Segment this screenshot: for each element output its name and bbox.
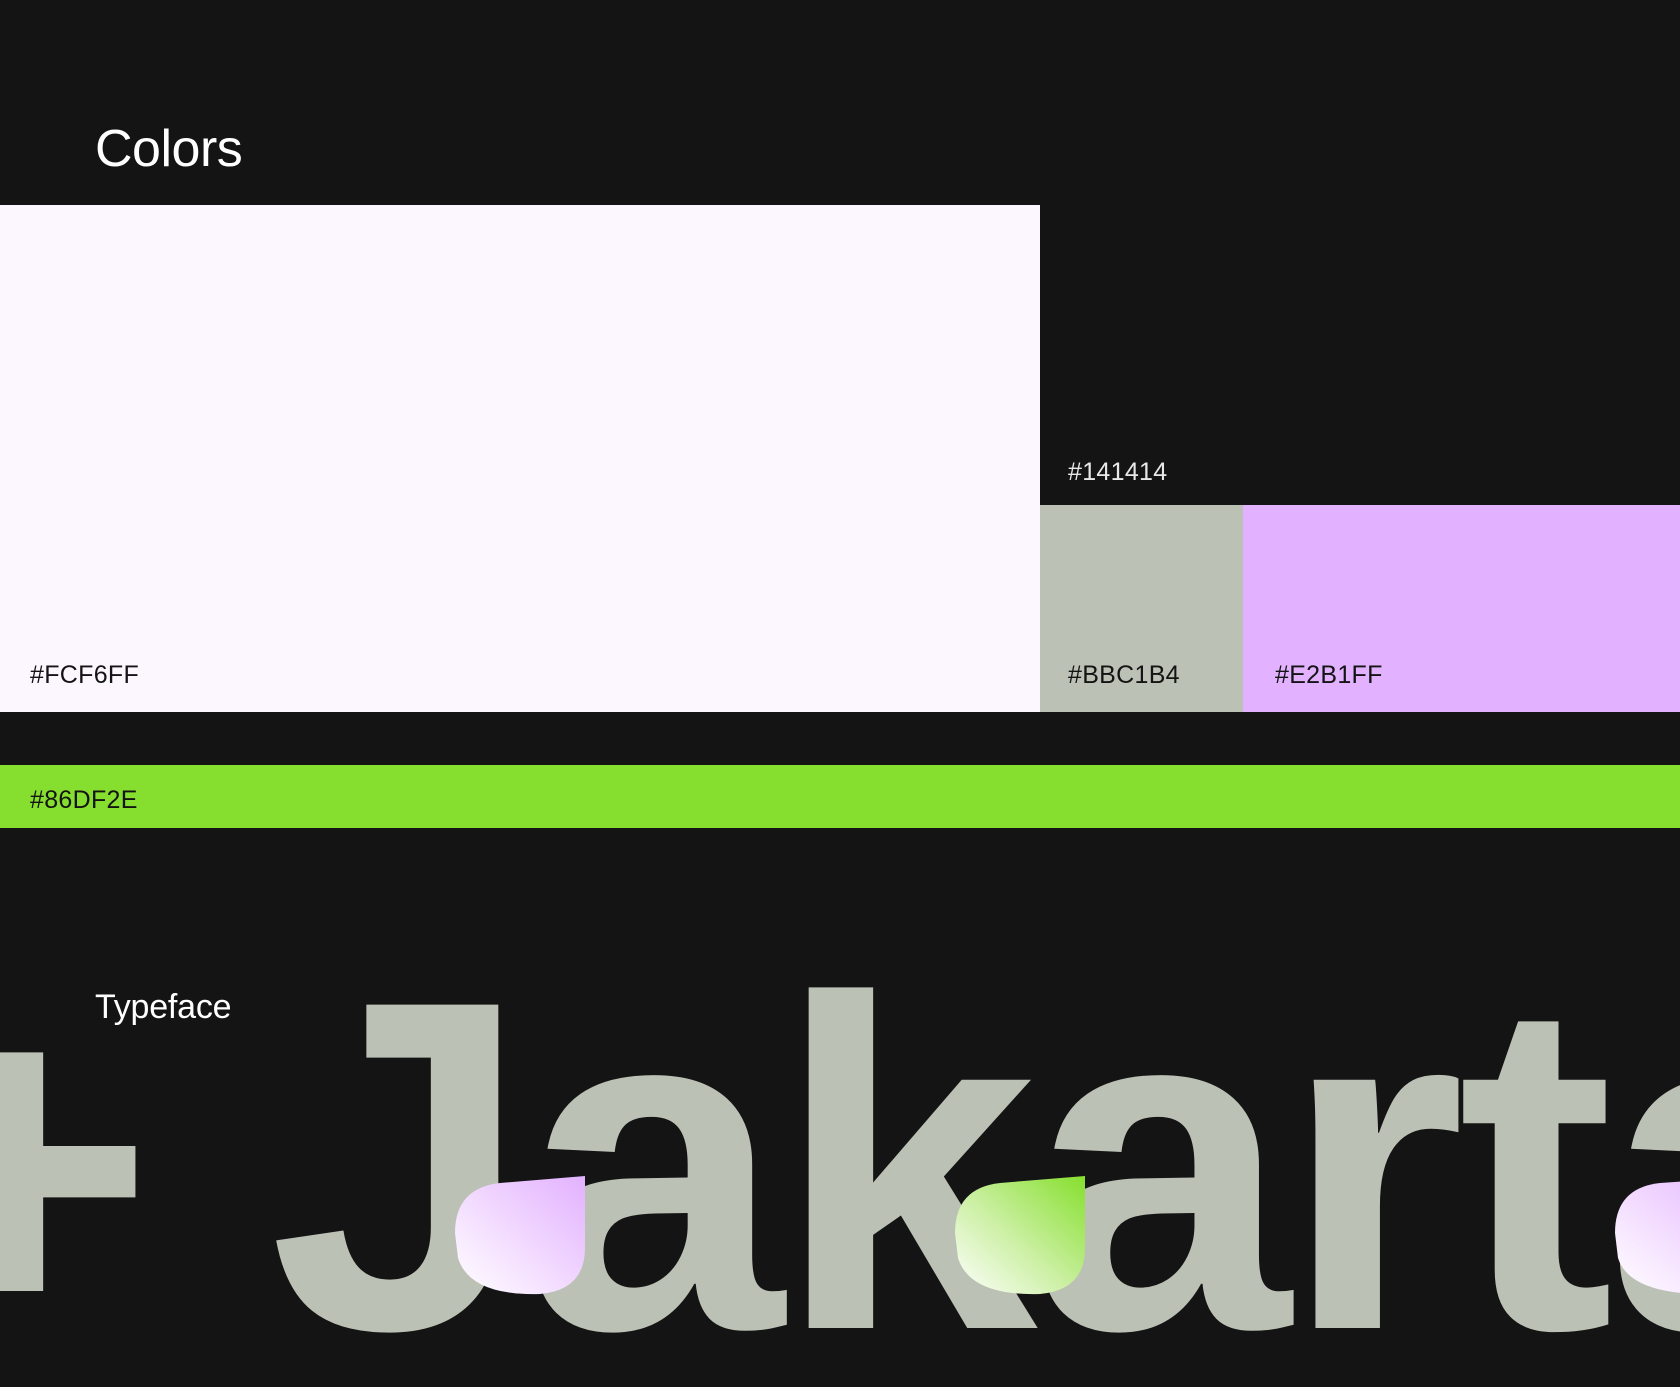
typeface-title: Typeface bbox=[95, 988, 231, 1027]
color-swatch-lavender[interactable]: #E2B1FF bbox=[1243, 505, 1680, 712]
color-swatch-off-white[interactable]: #FCF6FF bbox=[0, 205, 1040, 712]
specimen-word: + Jakarta bbox=[0, 903, 1680, 1387]
color-swatch-lime[interactable]: #86DF2E bbox=[0, 765, 1680, 828]
typeface-specimen: + Jakarta bbox=[0, 828, 1680, 1387]
page-title: Colors bbox=[95, 122, 242, 177]
typeface-specimen-lettering: + Jakarta bbox=[0, 828, 1680, 1387]
color-swatch-grid: #FCF6FF #141414 #BBC1B4 #E2B1FF #86DF2E bbox=[0, 205, 1680, 828]
color-swatch-label: #BBC1B4 bbox=[1068, 661, 1180, 690]
color-swatch-label: #141414 bbox=[1068, 458, 1167, 487]
counter-blob-lavender-1 bbox=[455, 1176, 585, 1294]
design-system-page: Colors #FCF6FF #141414 #BBC1B4 #E2B1FF #… bbox=[0, 0, 1680, 1387]
color-swatch-label: #E2B1FF bbox=[1275, 661, 1383, 690]
counter-blob-green bbox=[955, 1176, 1085, 1294]
color-swatch-label: #FCF6FF bbox=[30, 661, 139, 690]
color-swatch-near-black[interactable]: #141414 bbox=[1040, 205, 1680, 505]
color-swatch-sage[interactable]: #BBC1B4 bbox=[1040, 505, 1243, 712]
typeface-section: Typeface bbox=[0, 828, 1680, 1387]
color-swatch-label: #86DF2E bbox=[30, 786, 138, 815]
colors-section: Colors #FCF6FF #141414 #BBC1B4 #E2B1FF #… bbox=[0, 0, 1680, 828]
